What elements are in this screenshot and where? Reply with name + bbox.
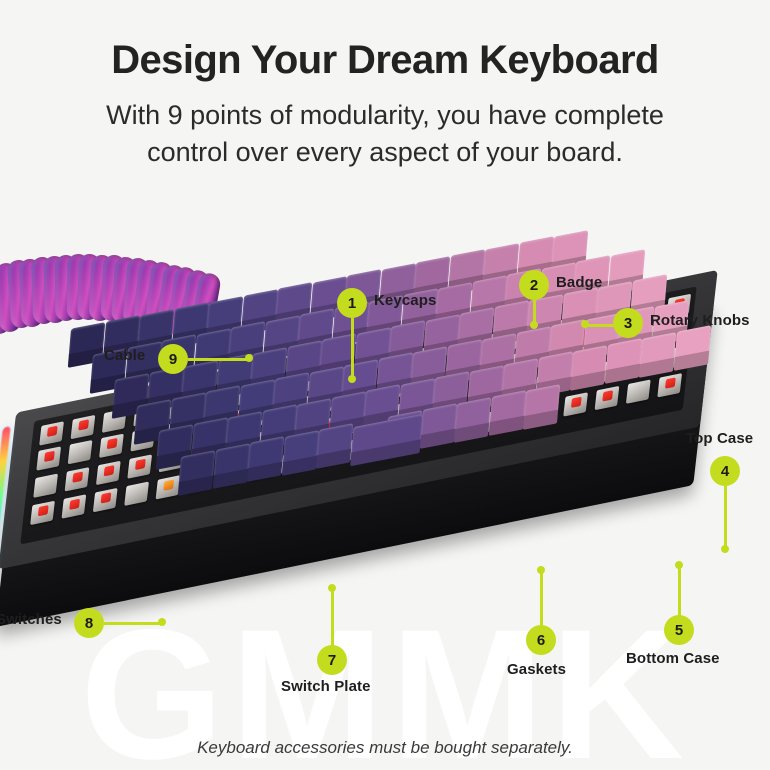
switch-socket [96,461,121,485]
header: Design Your Dream Keyboard With 9 points… [0,0,770,172]
keycap [488,390,525,436]
switch-socket [68,440,93,464]
keycap [316,423,353,469]
callout-leader-line [724,486,727,548]
callout-anchor-dot [530,321,538,329]
footer-note: Keyboard accessories must be bought sepa… [0,738,770,758]
callout-leader-line [188,358,248,361]
keycap [212,443,249,489]
switch-socket [93,488,118,512]
switch-socket [39,421,64,445]
switch-socket [626,379,651,403]
callout-label: Switches [0,611,62,628]
callout-leader-line [585,324,615,327]
callout-leader-line [104,622,160,625]
keycap [604,338,641,384]
callout-number-badge[interactable]: 3 [613,308,643,338]
switch-socket [657,373,682,397]
callout-label: Bottom Case [626,650,720,667]
keycap [570,345,607,391]
callout-anchor-dot [537,566,545,574]
keycap [281,430,318,476]
promo-graphic: GMMK Design Your Dream Keyboard With 9 p… [0,0,770,770]
callout-number-badge[interactable]: 1 [337,288,367,318]
callout-leader-line [678,565,681,617]
callout-anchor-dot [581,320,589,328]
switch-socket [71,415,96,439]
switch-socket [156,475,181,499]
keycap [419,403,456,449]
switch-socket [36,446,61,470]
callout-leader-line [540,570,543,627]
callout-anchor-dot [328,584,336,592]
callout-number-badge[interactable]: 5 [664,615,694,645]
callout-number-badge[interactable]: 7 [317,645,347,675]
keycap [523,384,560,430]
switch-socket [99,434,124,458]
callout-label: Badge [556,274,602,291]
callout-label: Cable [104,347,145,364]
callout-label: Keycaps [374,292,436,309]
callout-anchor-dot [675,561,683,569]
switch-socket [595,386,620,410]
callout-anchor-dot [245,354,253,362]
callout-label: Rotary Knobs [650,312,750,329]
page-title: Design Your Dream Keyboard [0,38,770,83]
keycap [639,332,676,378]
callout-label: Top Case [686,430,753,447]
callout-number-badge[interactable]: 4 [710,456,740,486]
switch-socket [127,454,152,478]
callout-anchor-dot [158,618,166,626]
switch-socket [124,482,149,506]
keycap [673,325,710,371]
callout-number-badge[interactable]: 2 [519,270,549,300]
callout-leader-line [331,588,334,647]
callout-label: Switch Plate [281,678,371,695]
callout-number-badge[interactable]: 6 [526,625,556,655]
switch-socket [30,501,55,525]
callout-anchor-dot [348,375,356,383]
callout-anchor-dot [721,545,729,553]
switch-socket [65,467,90,491]
keycap [178,450,215,496]
page-subtitle: With 9 points of modularity, you have co… [0,97,770,172]
switch-socket [61,494,86,518]
callout-leader-line [351,318,354,378]
callout-label: Gaskets [507,661,566,678]
callout-number-badge[interactable]: 8 [74,608,104,638]
switch-socket [33,474,58,498]
callout-number-badge[interactable]: 9 [158,344,188,374]
keycap [247,436,284,482]
switch-socket [563,392,588,416]
keycap [454,397,491,443]
